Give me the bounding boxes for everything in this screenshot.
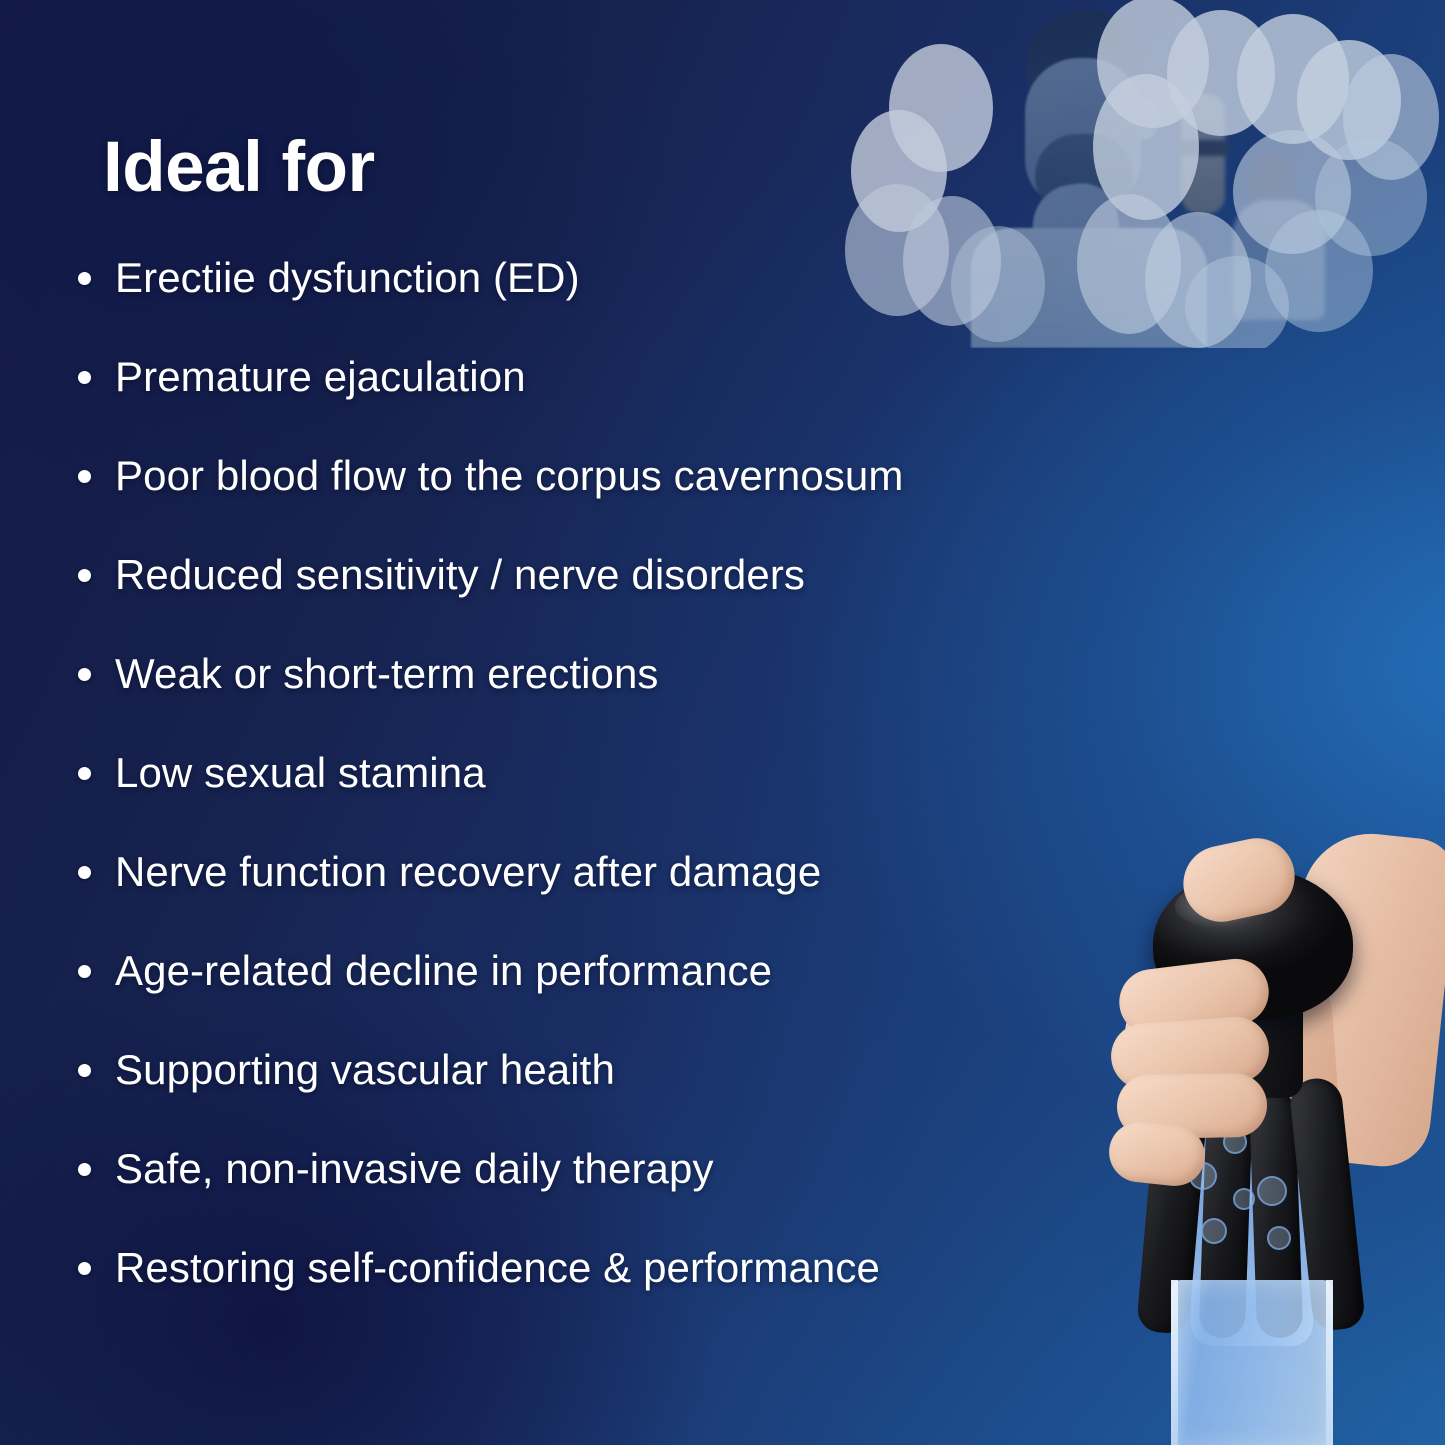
list-item: Restoring self-confidence & performance (70, 1218, 1130, 1317)
list-item: Reduced sensitivity / nerve disorders (70, 525, 1130, 624)
bullet-dot-icon (78, 470, 91, 483)
list-item-label: Premature ejaculation (115, 354, 526, 399)
list-item-label: Poor blood flow to the corpus cavernosum (115, 453, 903, 498)
finger (1116, 955, 1273, 1039)
list-item-label: Low sexual stamina (115, 750, 486, 795)
list-item-label: Supporting vascular heaith (115, 1047, 615, 1092)
finger (1176, 831, 1301, 929)
benefits-list: Erectiie dysfunction (ED) Premature ejac… (70, 228, 1130, 1317)
finger (1116, 1073, 1267, 1140)
list-item: Premature ejaculation (70, 327, 1130, 426)
inner-sleeve (1191, 1096, 1313, 1346)
list-item: Weak or short-term erections (70, 624, 1130, 723)
list-item: Poor blood flow to the corpus cavernosum (70, 426, 1130, 525)
hand-holding-device (1095, 828, 1445, 1445)
device-neck (1199, 988, 1303, 1098)
bullet-dot-icon (78, 1064, 91, 1077)
device-rib (1199, 1089, 1254, 1338)
list-item: Nerve function recovery after damage (70, 822, 1130, 921)
bullet-dot-icon (78, 668, 91, 681)
list-item-label: Safe, non-invasive daily therapy (115, 1146, 714, 1191)
bullet-dot-icon (78, 272, 91, 285)
list-item: Age-related decline in performance (70, 921, 1130, 1020)
palm (1118, 939, 1342, 1168)
translucent-sleeve (1171, 1280, 1333, 1445)
bullet-dot-icon (78, 1262, 91, 1275)
bullet-dot-icon (78, 569, 91, 582)
bullet-dot-icon (78, 371, 91, 384)
bullet-dot-icon (78, 965, 91, 978)
list-item: Low sexual stamina (70, 723, 1130, 822)
list-item-label: Restoring self-confidence & performance (115, 1245, 880, 1290)
poster-canvas: Ideal for Erectiie dysfunction (ED) Prem… (0, 0, 1445, 1445)
bullet-dot-icon (78, 767, 91, 780)
sleeve-edge (1326, 1280, 1333, 1445)
forearm (1274, 827, 1445, 1171)
bullet-dot-icon (78, 866, 91, 879)
device-rib (1249, 1089, 1304, 1338)
device-rib (1288, 1076, 1366, 1332)
bullet-dot-icon (78, 1163, 91, 1176)
sleeve-edge (1171, 1280, 1178, 1445)
device-rib (1136, 1076, 1210, 1335)
list-item-label: Age-related decline in performance (115, 948, 772, 993)
page-title: Ideal for (103, 132, 375, 203)
dome-highlight (1175, 884, 1267, 928)
device-dome (1153, 868, 1353, 1020)
power-icon[interactable] (1193, 886, 1227, 922)
list-item: Safe, non-invasive daily therapy (70, 1119, 1130, 1218)
background-scene-photo (1175, 84, 1365, 334)
list-item-label: Nerve function recovery after damage (115, 849, 821, 894)
finger (1109, 1015, 1271, 1092)
list-item-label: Erectiie dysfunction (ED) (115, 255, 580, 300)
list-item: Supporting vascular heaith (70, 1020, 1130, 1119)
list-item: Erectiie dysfunction (ED) (70, 228, 1130, 327)
list-item-label: Weak or short-term erections (115, 651, 659, 696)
list-item-label: Reduced sensitivity / nerve disorders (115, 552, 805, 597)
